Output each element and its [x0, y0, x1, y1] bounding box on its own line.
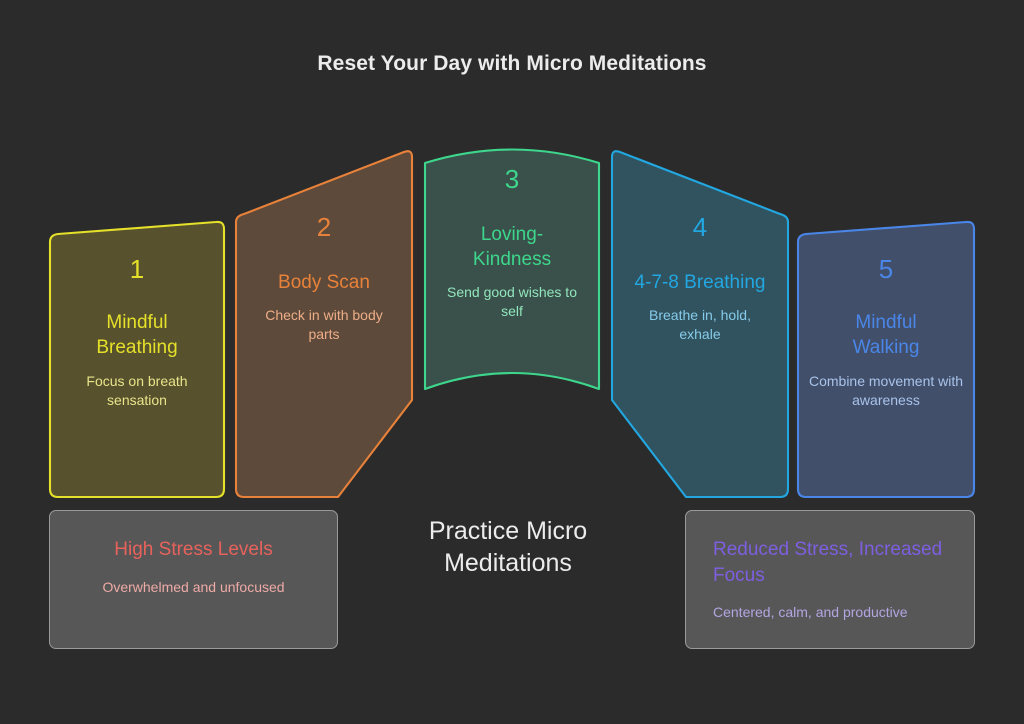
- step-card-4-shape[interactable]: [612, 151, 788, 497]
- step-card-2-shape[interactable]: [236, 151, 412, 497]
- outcome-after-description: Centered, calm, and productive: [713, 603, 951, 622]
- outcome-before-description: Overwhelmed and unfocused: [59, 578, 328, 597]
- outcome-before-title: High Stress Levels: [59, 537, 328, 563]
- page-title: Reset Your Day with Micro Meditations: [0, 52, 1024, 76]
- step-card-1-shape[interactable]: [50, 222, 224, 497]
- infographic-canvas: Reset Your Day with Micro Meditations 1 …: [0, 0, 1024, 724]
- center-caption: Practice Micro Meditations: [378, 515, 638, 579]
- outcome-after-title: Reduced Stress, Increased Focus: [713, 537, 951, 589]
- step-card-5-shape[interactable]: [798, 222, 974, 497]
- step-card-3-shape[interactable]: [425, 150, 599, 390]
